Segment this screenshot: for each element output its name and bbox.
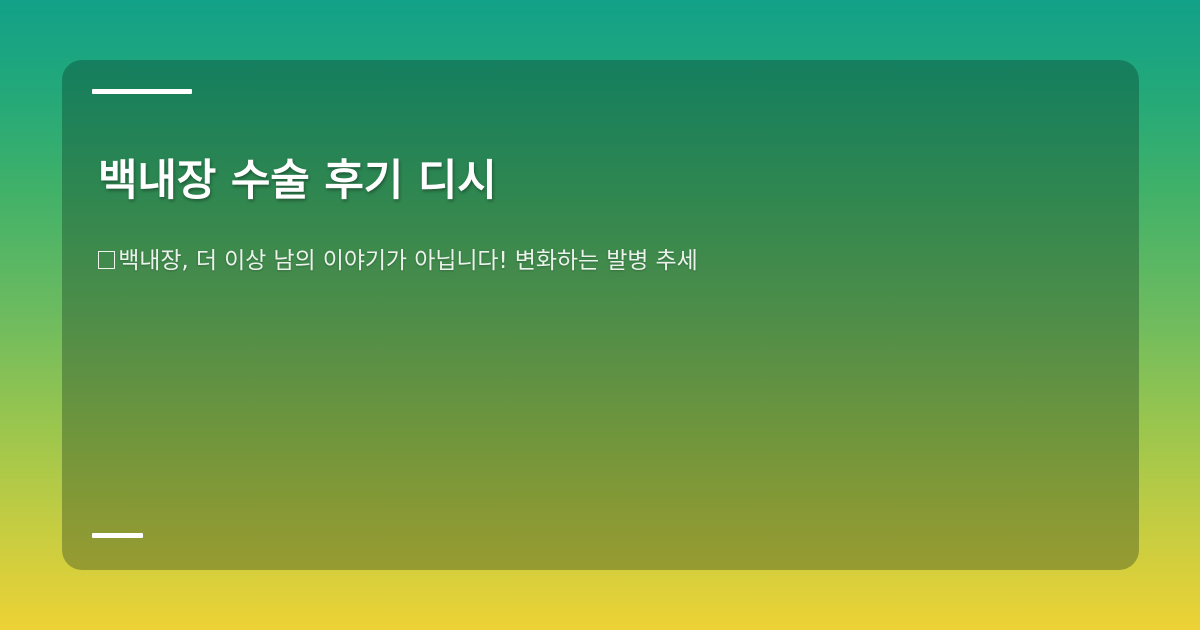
missing-glyph-box-icon [98, 251, 115, 269]
og-image-canvas: 백내장 수술 후기 디시 백내장, 더 이상 남의 이야기가 아닙니다! 변화하… [0, 0, 1200, 630]
content-card: 백내장 수술 후기 디시 백내장, 더 이상 남의 이야기가 아닙니다! 변화하… [62, 60, 1139, 570]
page-subtitle-text: 백내장, 더 이상 남의 이야기가 아닙니다! 변화하는 발병 추세 [118, 248, 697, 274]
card-text-block: 백내장 수술 후기 디시 백내장, 더 이상 남의 이야기가 아닙니다! 변화하… [98, 156, 1103, 277]
page-title: 백내장 수술 후기 디시 [98, 156, 1103, 207]
page-subtitle: 백내장, 더 이상 남의 이야기가 아닙니다! 변화하는 발병 추세 [98, 245, 1103, 277]
accent-rule-top [92, 89, 192, 94]
accent-rule-bottom [92, 533, 143, 538]
